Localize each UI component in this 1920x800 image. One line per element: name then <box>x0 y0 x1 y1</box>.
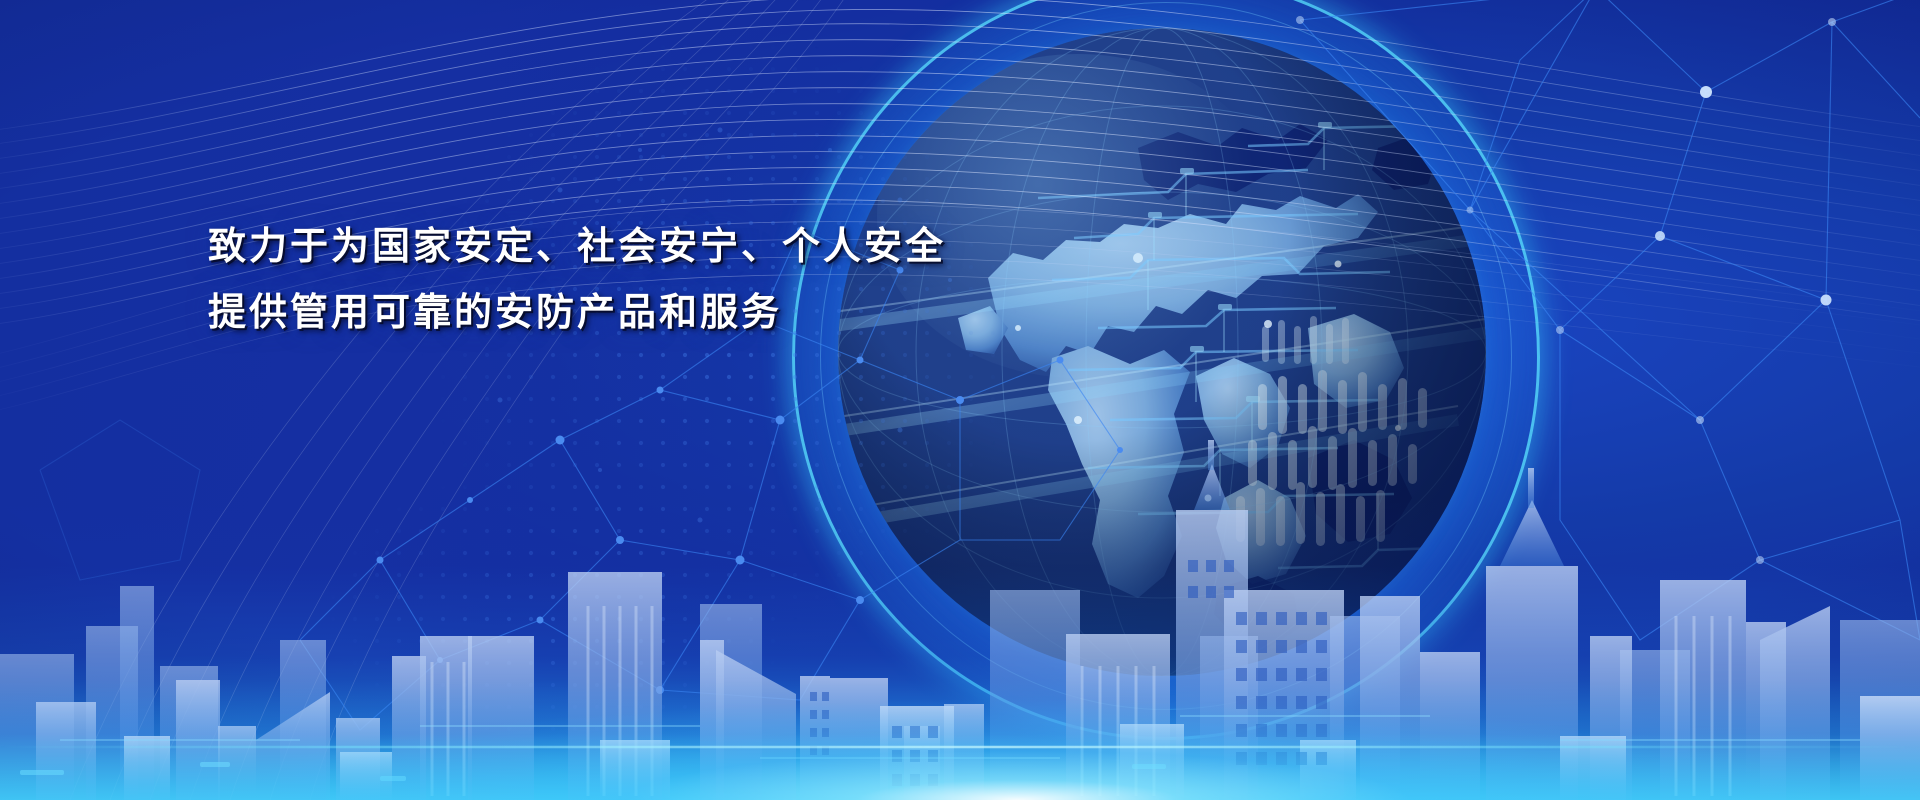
headline-line-1: 致力于为国家安定、社会安宁、个人安全 <box>208 214 946 280</box>
hero-banner: 致力于为国家安定、社会安宁、个人安全 提供管用可靠的安防产品和服务 <box>0 0 1920 800</box>
headline-line-2: 提供管用可靠的安防产品和服务 <box>208 280 946 346</box>
headline-block: 致力于为国家安定、社会安宁、个人安全 提供管用可靠的安防产品和服务 <box>208 214 946 346</box>
horizon-line <box>0 746 1920 748</box>
